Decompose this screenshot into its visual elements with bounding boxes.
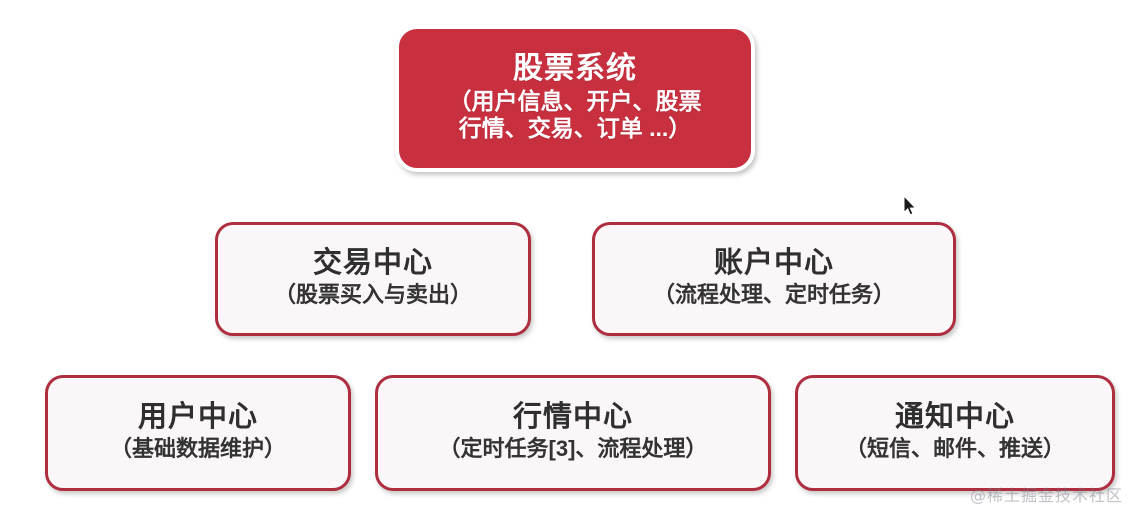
node-trade-center[interactable]: 交易中心 （股票买入与卖出）	[215, 222, 531, 336]
node-subtitle: （基础数据维护）	[110, 436, 286, 462]
node-title: 账户中心	[714, 246, 834, 280]
mouse-pointer-icon	[903, 195, 917, 217]
node-account-center[interactable]: 账户中心 （流程处理、定时任务）	[592, 222, 956, 336]
node-subtitle-line-1: （用户信息、开户、股票	[449, 88, 702, 115]
node-subtitle-line-2: 行情、交易、订单 ...）	[449, 115, 702, 142]
node-subtitle: （用户信息、开户、股票 行情、交易、订单 ...）	[449, 88, 702, 142]
node-title: 行情中心	[513, 400, 633, 434]
node-title: 交易中心	[313, 246, 433, 280]
node-quote-center[interactable]: 行情中心 （定时任务[3]、流程处理）	[375, 375, 771, 491]
node-notify-center[interactable]: 通知中心 （短信、邮件、推送）	[795, 375, 1115, 491]
node-subtitle: （流程处理、定时任务）	[653, 282, 895, 308]
node-title: 通知中心	[895, 400, 1015, 434]
node-subtitle: （短信、邮件、推送）	[845, 436, 1065, 462]
node-stock-system[interactable]: 股票系统 （用户信息、开户、股票 行情、交易、订单 ...）	[395, 25, 755, 172]
node-title: 股票系统	[513, 51, 637, 86]
diagram-canvas: 股票系统 （用户信息、开户、股票 行情、交易、订单 ...） 交易中心 （股票买…	[0, 0, 1139, 512]
node-user-center[interactable]: 用户中心 （基础数据维护）	[45, 375, 351, 491]
watermark-text: @稀土掘金技术社区	[970, 482, 1123, 506]
node-subtitle: （定时任务[3]、流程处理）	[439, 436, 708, 462]
node-title: 用户中心	[138, 400, 258, 434]
node-subtitle: （股票买入与卖出）	[274, 282, 472, 308]
